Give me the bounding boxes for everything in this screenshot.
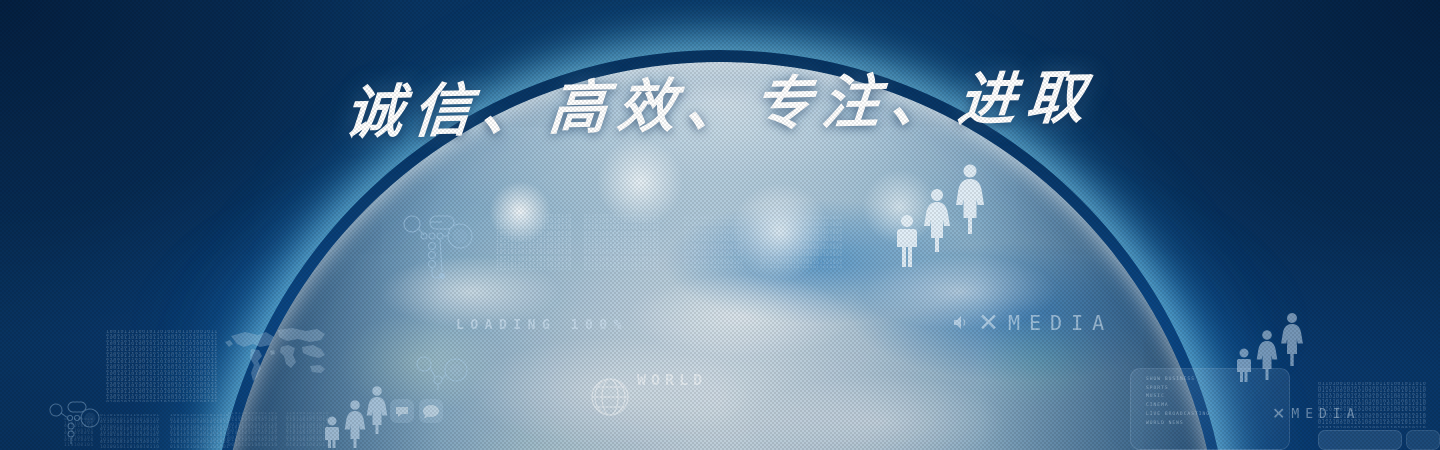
channel-item: LIVE BROADCASTING (1146, 411, 1276, 420)
code-block-bottom-3: 0101101001011010010110100101101001011010… (228, 412, 280, 446)
panel-chip-left (1318, 430, 1402, 450)
code-block-bottom-left-tiny: 0110100101101001011010010110100101101001… (64, 418, 94, 446)
code-block-center-b: 0110100101101001011010010110100101101001… (584, 214, 662, 270)
corporate-banner: 1001011010010110100101101001011010010110… (0, 0, 1440, 450)
channel-item: SHOW BUSINESS (1146, 376, 1276, 385)
world-caption: WORLD (637, 371, 707, 389)
code-block-center-strip-a: 0110100101101001011010010110100101101001… (684, 216, 744, 268)
channel-item: SPORTS (1146, 385, 1276, 394)
world-map-icon (222, 325, 332, 387)
channel-list: SHOW BUSINESS SPORTS MUSIC CINEMA LIVE B… (1146, 376, 1276, 428)
code-block-center-a: 1011010010110100101101001011010010110100… (496, 214, 574, 270)
channel-item: MUSIC (1146, 393, 1276, 402)
channel-item: CINEMA (1146, 402, 1276, 411)
code-block-bottom-2: 1001011010010110100101101001011010010110… (170, 414, 230, 448)
panel-chip-right (1406, 430, 1440, 450)
code-block-bottom-1: 0110100101101001011010010110100101101001… (100, 414, 160, 448)
code-block-bottom-4: 1101001011010010110100101101001011010010… (286, 412, 332, 446)
code-block-center-strip-b: 1011010010110100101101001011010010110100… (760, 216, 846, 268)
code-block-right-corner: 0110100101101001011010010110100101101001… (1318, 382, 1428, 428)
channel-item: WORLD NEWS (1146, 420, 1276, 429)
loading-caption: LOADING 100% (456, 318, 628, 333)
code-block-left-map: 1001011010010110100101101001011010010110… (106, 330, 220, 402)
